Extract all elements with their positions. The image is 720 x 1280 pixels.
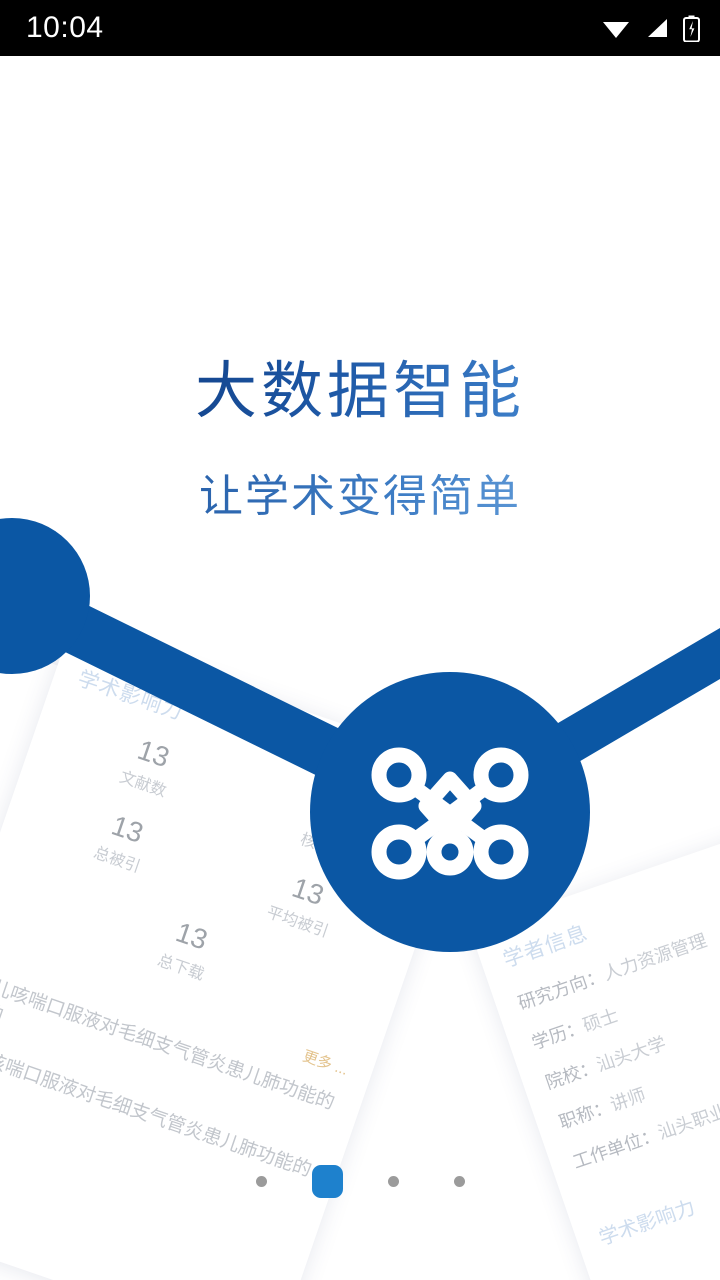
cellular-signal-icon [644, 16, 670, 40]
wifi-icon [601, 16, 631, 40]
status-bar-icons [601, 15, 700, 42]
pagination-dot-1[interactable] [256, 1176, 267, 1187]
info-value: 汕头大学 [594, 1033, 669, 1075]
onboarding-screen: 学术影响力 13 文献数 13 核心数 13 总被引 13 平均被引 [0, 0, 720, 1280]
pagination-dot-3[interactable] [388, 1176, 399, 1187]
pagination-dots [0, 1165, 720, 1198]
info-key: 研究方向： [516, 965, 608, 1013]
pagination-dot-2-active[interactable] [312, 1165, 343, 1198]
pagination-dot-4[interactable] [454, 1176, 465, 1187]
pagination-slot[interactable] [360, 1176, 426, 1187]
status-bar-clock: 10:04 [26, 13, 104, 43]
info-key: 院校： [543, 1057, 601, 1093]
status-bar: 10:04 [0, 0, 720, 56]
info-key: 学历： [529, 1017, 587, 1053]
battery-charging-icon [683, 15, 700, 42]
card-scholar-info-right: 学者信息 研究方向：人力资源管理 学历：硕士 院校：汕头大学 职称：讲师 工作单… [470, 793, 720, 1280]
pagination-slot[interactable] [426, 1176, 492, 1187]
info-key: 职称： [557, 1096, 615, 1132]
pagination-slot[interactable] [228, 1176, 294, 1187]
info-value: 硕士 [580, 1005, 621, 1036]
decorative-cards-layer: 学术影响力 13 文献数 13 核心数 13 总被引 13 平均被引 [0, 0, 720, 1280]
info-value: 讲师 [608, 1085, 649, 1116]
pagination-slot[interactable] [294, 1165, 360, 1198]
